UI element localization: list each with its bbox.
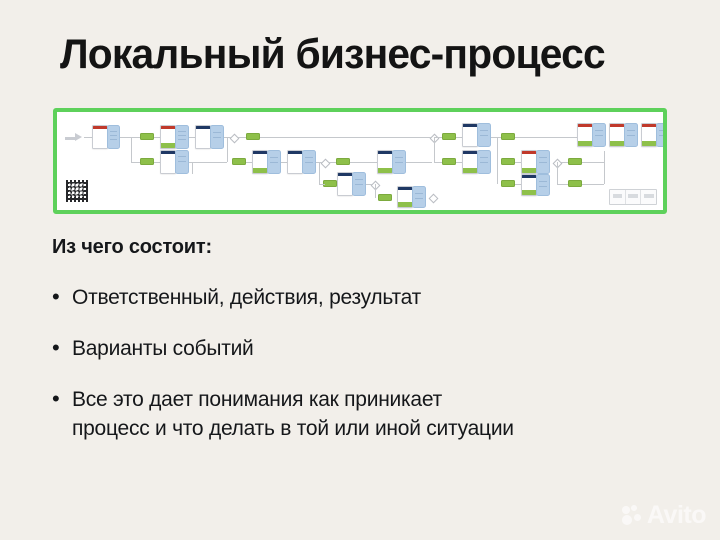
node-body <box>398 190 412 202</box>
legend-cell <box>610 190 626 204</box>
edge-label <box>378 194 392 201</box>
edge-label <box>568 158 582 165</box>
node-panel <box>175 125 189 149</box>
connector <box>192 162 193 174</box>
edge-label <box>336 158 350 165</box>
panel-line <box>213 132 221 133</box>
bullet-text: Варианты событий <box>72 334 254 363</box>
node-footer <box>253 168 267 173</box>
panel-line <box>659 135 667 136</box>
bullet-text: Все это дает понимания как приникает про… <box>72 385 514 443</box>
node-body <box>642 127 656 141</box>
panel-line <box>110 139 117 140</box>
panel-line <box>480 130 488 131</box>
panel-line <box>595 135 603 136</box>
process-node[interactable] <box>287 150 303 174</box>
gateway-diamond <box>230 133 240 143</box>
panel-line <box>627 130 635 131</box>
bullet-marker: • <box>52 385 72 413</box>
node-panel <box>656 123 667 147</box>
process-node[interactable] <box>521 174 537 196</box>
panel-line <box>395 162 403 163</box>
connector <box>319 162 320 184</box>
node-footer <box>161 143 175 148</box>
legend-cell <box>641 190 656 204</box>
panel-line <box>627 135 635 136</box>
logo-dot <box>634 514 641 521</box>
list-item: • Ответственный, действия, результат <box>52 283 692 312</box>
node-body <box>196 129 210 148</box>
node-body <box>463 154 477 168</box>
connector <box>120 137 131 138</box>
panel-line <box>110 131 117 132</box>
logo-dot <box>631 505 637 511</box>
node-panel <box>477 150 491 174</box>
panel-line <box>355 179 363 180</box>
panel-line <box>595 130 603 131</box>
edge-label <box>232 158 246 165</box>
node-panel <box>392 150 406 174</box>
panel-line <box>178 156 186 157</box>
node-footer <box>522 168 536 173</box>
connector <box>434 137 442 138</box>
process-node[interactable] <box>160 150 176 174</box>
panel-line <box>213 137 221 138</box>
connector <box>131 137 140 138</box>
bullet-marker: • <box>52 283 72 311</box>
panel-line <box>178 131 186 132</box>
connector <box>604 151 605 184</box>
node-footer <box>522 190 536 195</box>
connector <box>260 137 432 138</box>
panel-line <box>415 193 423 194</box>
section-subheading: Из чего состоит: <box>52 236 212 259</box>
node-body <box>288 154 302 173</box>
node-panel <box>592 123 606 147</box>
diagram-canvas <box>57 112 663 210</box>
node-footer <box>642 141 656 146</box>
connector <box>237 137 246 138</box>
node-body <box>93 129 107 148</box>
page-title: Локальный бизнес-процесс <box>60 30 605 78</box>
process-node[interactable] <box>377 150 393 174</box>
panel-line <box>539 186 547 187</box>
node-panel <box>175 150 189 174</box>
node-body <box>578 127 592 141</box>
gateway-diamond <box>429 193 439 203</box>
connector <box>497 137 498 162</box>
panel-line <box>480 135 488 136</box>
node-panel <box>536 174 550 196</box>
process-node[interactable] <box>609 123 625 147</box>
slide-root: Локальный бизнес-процесс <box>0 0 720 540</box>
process-node[interactable] <box>195 125 211 149</box>
connector <box>319 184 325 185</box>
edge-label <box>442 158 456 165</box>
connector <box>560 162 568 163</box>
node-panel <box>412 186 426 208</box>
connector <box>375 184 376 198</box>
edge-label <box>323 180 337 187</box>
node-body <box>253 154 267 168</box>
panel-line <box>270 162 278 163</box>
node-panel <box>624 123 638 147</box>
edge-label <box>140 158 154 165</box>
panel-line <box>415 198 423 199</box>
panel-line <box>659 130 667 131</box>
process-node[interactable] <box>462 123 478 147</box>
connector <box>557 162 558 184</box>
panel-line <box>480 157 488 158</box>
bullet-list: • Ответственный, действия, результат • В… <box>52 283 692 465</box>
node-body <box>610 127 624 141</box>
edge-label <box>568 180 582 187</box>
edge-label <box>501 158 515 165</box>
panel-line <box>178 139 186 140</box>
panel-line <box>305 162 313 163</box>
panel-line <box>178 161 186 162</box>
panel-line <box>355 184 363 185</box>
node-body <box>161 154 175 173</box>
edge-label <box>442 133 456 140</box>
connector <box>131 162 140 163</box>
connector <box>227 137 228 162</box>
node-panel <box>536 150 550 174</box>
process-node[interactable] <box>252 150 268 174</box>
edge-label <box>501 133 515 140</box>
connector <box>131 137 132 162</box>
start-stem <box>65 137 75 140</box>
node-body <box>161 129 175 143</box>
process-node[interactable] <box>577 123 593 147</box>
list-item: • Варианты событий <box>52 334 692 363</box>
node-footer <box>610 141 624 146</box>
process-diagram[interactable] <box>53 108 667 214</box>
process-node[interactable] <box>337 172 353 196</box>
connector <box>497 162 498 184</box>
start-arrow-icon <box>75 133 82 141</box>
process-node[interactable] <box>521 150 537 174</box>
connector <box>189 162 227 163</box>
process-node[interactable] <box>397 186 413 208</box>
process-node[interactable] <box>641 123 657 147</box>
panel-line <box>480 162 488 163</box>
connector <box>434 162 442 163</box>
legend-cell <box>626 190 642 204</box>
connector <box>84 137 92 138</box>
process-node[interactable] <box>462 150 478 174</box>
gateway-diamond <box>321 158 331 168</box>
panel-line <box>178 135 186 136</box>
logo-dot <box>622 506 630 514</box>
list-item: • Все это дает понимания как приникает п… <box>52 385 692 443</box>
edge-label <box>140 133 154 140</box>
panel-line <box>270 157 278 158</box>
panel-line <box>395 157 403 158</box>
qr-code[interactable] <box>66 180 88 202</box>
bullet-text: Ответственный, действия, результат <box>72 283 421 312</box>
avito-logo-icon <box>622 505 643 526</box>
node-footer <box>578 141 592 146</box>
node-body <box>378 154 392 168</box>
diagram-legend[interactable] <box>609 189 657 205</box>
node-panel <box>267 150 281 174</box>
connector <box>557 184 568 185</box>
node-footer <box>378 168 392 173</box>
logo-dot <box>622 515 632 525</box>
node-footer <box>463 168 477 173</box>
connector <box>434 137 435 162</box>
avito-watermark: Avito <box>622 503 706 528</box>
connector <box>582 162 604 163</box>
connector <box>515 137 577 138</box>
panel-line <box>110 135 117 136</box>
bullet-marker: • <box>52 334 72 362</box>
node-body <box>463 127 477 146</box>
connector <box>582 184 604 185</box>
edge-label <box>501 180 515 187</box>
node-body <box>522 154 536 168</box>
node-footer <box>398 202 412 207</box>
node-panel <box>302 150 316 174</box>
node-body <box>338 176 352 195</box>
watermark-text: Avito <box>647 503 706 528</box>
panel-line <box>539 181 547 182</box>
connector <box>328 162 336 163</box>
node-panel <box>210 125 224 149</box>
process-node[interactable] <box>92 125 108 149</box>
node-panel <box>352 172 366 196</box>
panel-line <box>539 162 547 163</box>
node-panel <box>107 125 120 149</box>
node-panel <box>477 123 491 147</box>
panel-line <box>305 157 313 158</box>
process-node[interactable] <box>160 125 176 149</box>
panel-line <box>539 157 547 158</box>
connector <box>491 137 501 138</box>
node-body <box>522 178 536 190</box>
edge-label <box>246 133 260 140</box>
